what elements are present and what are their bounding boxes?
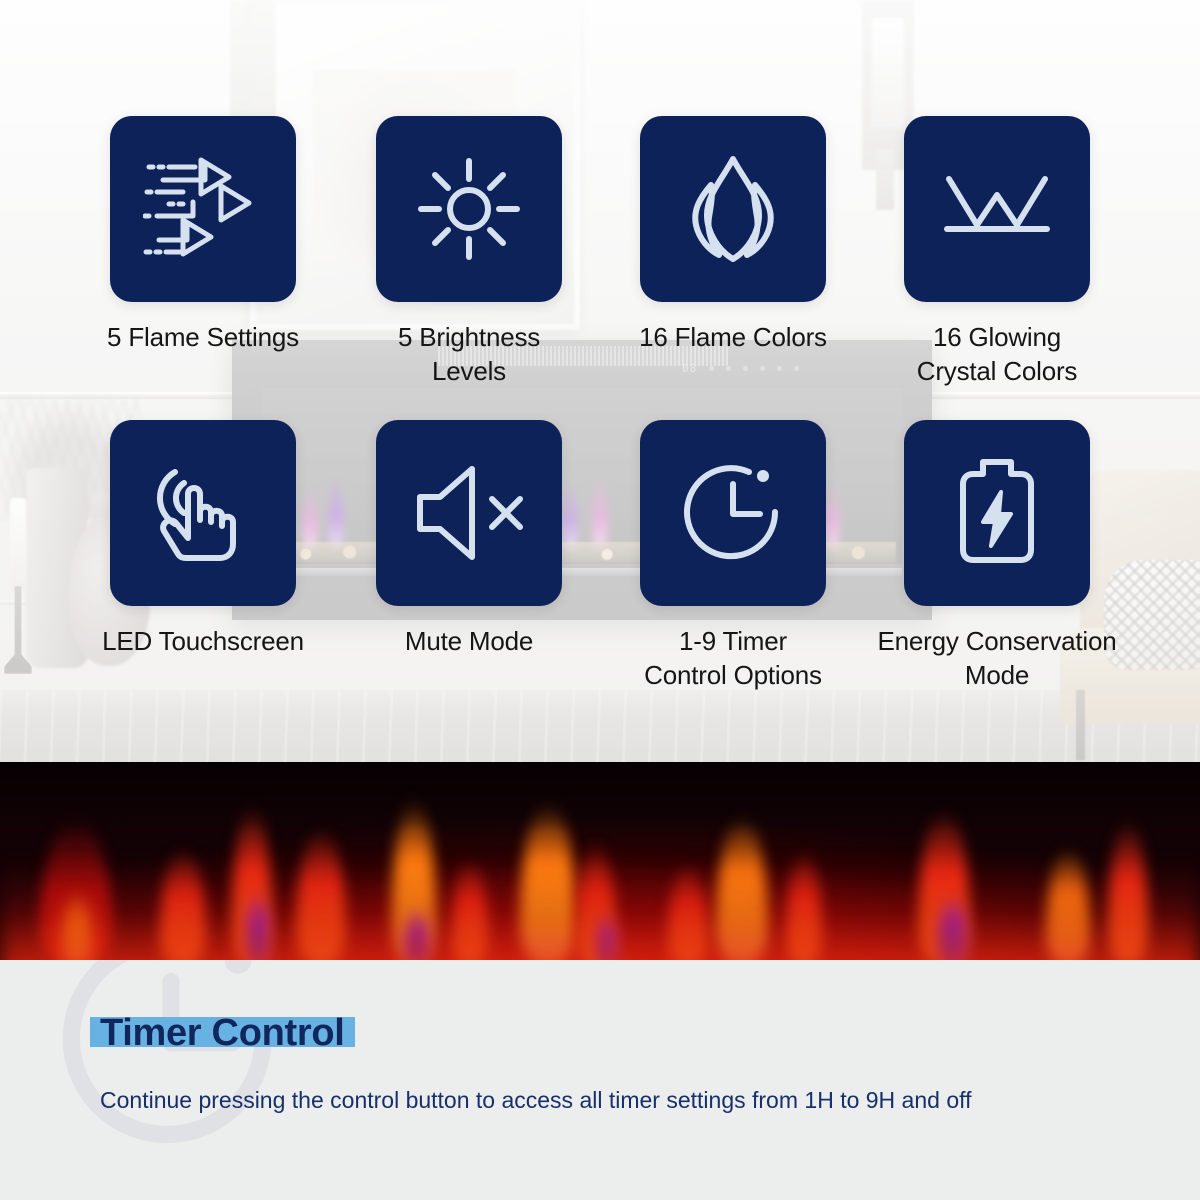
feature-energy-mode[interactable]: Energy Conservation Mode xyxy=(858,420,1136,692)
flame-icon xyxy=(681,151,785,267)
feature-grid: 5 Flame Settings xyxy=(0,0,1200,762)
feature-tile[interactable] xyxy=(640,420,826,606)
feature-tile[interactable] xyxy=(376,420,562,606)
timer-control-copy: Timer Control Continue pressing the cont… xyxy=(100,1012,1140,1119)
feature-label: Mute Mode xyxy=(330,624,608,658)
feature-tile[interactable] xyxy=(904,116,1090,302)
feature-label: 16 Glowing Crystal Colors xyxy=(858,320,1136,388)
sun-brightness-icon xyxy=(415,155,523,263)
touch-hand-icon xyxy=(144,458,262,568)
speed-arrows-icon xyxy=(143,156,263,262)
battery-bolt-icon xyxy=(953,454,1041,572)
feature-led-touchscreen[interactable]: LED Touchscreen xyxy=(64,420,342,658)
feature-tile[interactable] xyxy=(110,420,296,606)
feature-label: Energy Conservation Mode xyxy=(858,624,1136,692)
clock-timer-icon xyxy=(680,460,786,566)
crystal-gem-icon xyxy=(939,167,1055,251)
feature-label: 16 Flame Colors xyxy=(594,320,872,354)
feature-label: LED Touchscreen xyxy=(64,624,342,658)
timer-control-body-text: Continue pressing the control button to … xyxy=(100,1083,1030,1119)
timer-control-heading: Timer Control xyxy=(100,1012,345,1054)
feature-label: 1-9 Timer Control Options xyxy=(594,624,872,692)
feature-crystal-colors[interactable]: 16 Glowing Crystal Colors xyxy=(858,116,1136,388)
feature-brightness-levels[interactable]: 5 Brightness Levels xyxy=(330,116,608,388)
hero-lifestyle-section: 08 xyxy=(0,0,1200,762)
flame-band-glow xyxy=(0,860,1200,960)
feature-tile[interactable] xyxy=(904,420,1090,606)
feature-tile[interactable] xyxy=(376,116,562,302)
timer-control-heading-wrap: Timer Control xyxy=(100,1012,345,1055)
feature-timer-options[interactable]: 1-9 Timer Control Options xyxy=(594,420,872,692)
feature-label: 5 Brightness Levels xyxy=(330,320,608,388)
feature-mute-mode[interactable]: Mute Mode xyxy=(330,420,608,658)
feature-tile[interactable] xyxy=(640,116,826,302)
flame-band-top-fade xyxy=(0,762,1200,832)
product-feature-page: 08 xyxy=(0,0,1200,1200)
feature-flame-colors[interactable]: 16 Flame Colors xyxy=(594,116,872,354)
feature-flame-settings[interactable]: 5 Flame Settings xyxy=(64,116,342,354)
speaker-mute-icon xyxy=(410,461,528,565)
feature-label: 5 Flame Settings xyxy=(64,320,342,354)
feature-tile[interactable] xyxy=(110,116,296,302)
timer-control-section: Timer Control Continue pressing the cont… xyxy=(0,960,1200,1200)
flame-photo-band xyxy=(0,762,1200,960)
